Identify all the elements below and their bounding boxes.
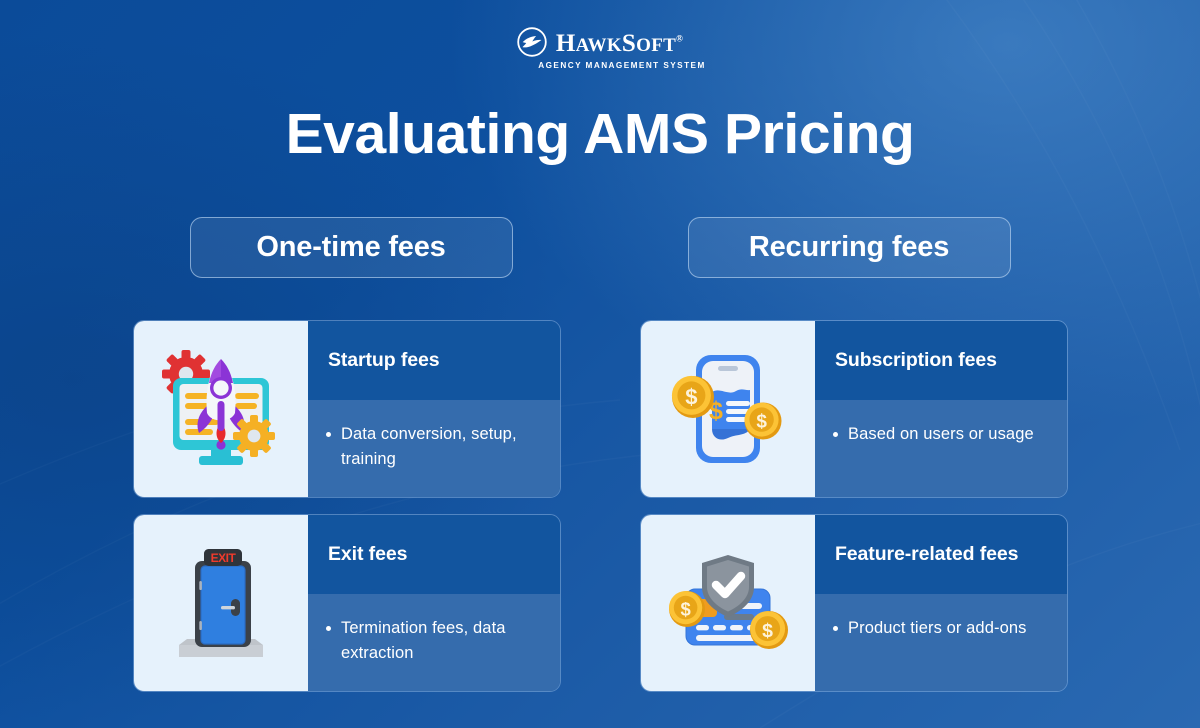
svg-text:$: $ (685, 385, 697, 410)
card-bullet-list: Termination fees, data extraction (308, 594, 560, 691)
wordmark-awk: AWK (576, 35, 622, 56)
card-heading: Feature-related fees (815, 515, 1067, 594)
exit-door-sign-icon: EXIT (155, 537, 287, 669)
mobile-invoice-coins-icon: $ $ $ (662, 343, 794, 475)
wordmark-s: S (622, 30, 636, 57)
card-bullet-list: Product tiers or add-ons (815, 594, 1067, 691)
card-body: Exit fees Termination fees, data extract… (308, 515, 560, 691)
card-icon-panel: $ $ (641, 515, 815, 691)
list-item: Data conversion, setup, training (326, 422, 540, 472)
bullet-text: Termination fees, data extraction (341, 616, 540, 666)
card-heading: Exit fees (308, 515, 560, 594)
list-item: Based on users or usage (833, 422, 1047, 447)
card-bullet-list: Data conversion, setup, training (308, 400, 560, 497)
list-item: Product tiers or add-ons (833, 616, 1047, 641)
card-icon-panel: $ $ $ (641, 321, 815, 497)
card-body: Feature-related fees Product tiers or ad… (815, 515, 1067, 691)
bullet-text: Based on users or usage (848, 422, 1034, 447)
svg-text:$: $ (756, 412, 767, 433)
bullet-dot-icon (833, 626, 838, 631)
card-startup-fees: Startup fees Data conversion, setup, tra… (133, 320, 561, 498)
card-exit-fees: EXIT Exit fees Termination fees, data ex… (133, 514, 561, 692)
hawk-in-circle-icon (517, 27, 547, 57)
brand-logo: HAWKSOFT® AGENCY MANAGEMENT SYSTEM (0, 27, 1200, 70)
rocket-launch-monitor-icon (155, 343, 287, 475)
svg-text:EXIT: EXIT (211, 551, 237, 565)
list-item: Termination fees, data extraction (326, 616, 540, 666)
card-icon-panel: EXIT (134, 515, 308, 691)
brand-wordmark: HAWKSOFT® (556, 31, 683, 56)
column-header-one-time-fees: One-time fees (190, 217, 513, 278)
card-body: Subscription fees Based on users or usag… (815, 321, 1067, 497)
card-body: Startup fees Data conversion, setup, tra… (308, 321, 560, 497)
card-icon-panel (134, 321, 308, 497)
fee-card-grid: Startup fees Data conversion, setup, tra… (133, 320, 1068, 692)
card-heading: Startup fees (308, 321, 560, 400)
bullet-text: Data conversion, setup, training (341, 422, 540, 472)
wordmark-oft: OFT (636, 35, 676, 56)
wordmark-h: H (556, 30, 576, 57)
brand-tagline: AGENCY MANAGEMENT SYSTEM (538, 61, 705, 70)
column-headers: One-time fees Recurring fees (0, 217, 1200, 278)
bullet-dot-icon (326, 432, 331, 437)
card-bullet-list: Based on users or usage (815, 400, 1067, 497)
card-heading: Subscription fees (815, 321, 1067, 400)
column-header-recurring-fees: Recurring fees (688, 217, 1011, 278)
svg-text:$: $ (762, 620, 773, 642)
credit-card-shield-coins-icon: $ $ (662, 537, 794, 669)
page-title: Evaluating AMS Pricing (0, 103, 1200, 166)
svg-text:$: $ (680, 598, 691, 619)
card-feature-related-fees: $ $ Feature-related fees Prod (640, 514, 1068, 692)
trademark-symbol: ® (676, 33, 683, 43)
infographic-canvas: HAWKSOFT® AGENCY MANAGEMENT SYSTEM Evalu… (0, 0, 1200, 728)
bullet-dot-icon (833, 432, 838, 437)
bullet-text: Product tiers or add-ons (848, 616, 1027, 641)
bullet-dot-icon (326, 626, 331, 631)
card-subscription-fees: $ $ $ (640, 320, 1068, 498)
